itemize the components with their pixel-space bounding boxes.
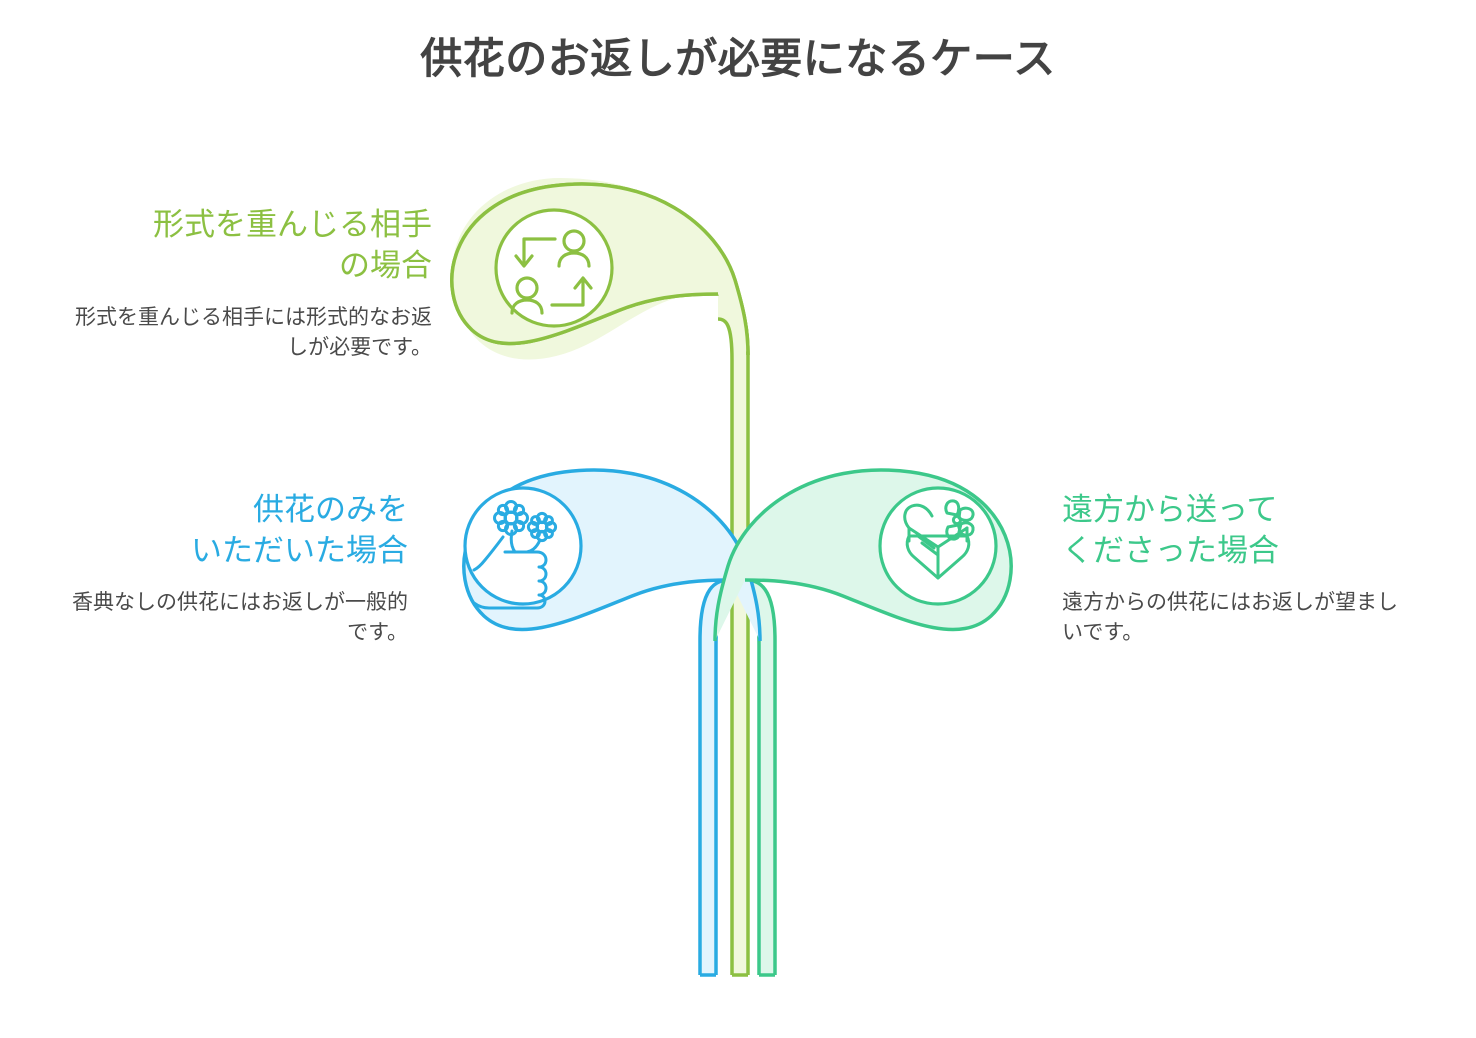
node-text-flowers-only: 供花のみを いただいた場合 香典なしの供花にはお返しが一般的です。 xyxy=(60,490,408,647)
node-heading-flowers-only: 供花のみを いただいた場合 xyxy=(60,490,408,572)
stem-green xyxy=(718,294,748,975)
node-heading-line-1: 遠方から送って xyxy=(1062,492,1277,527)
node-heading-line-1: 供花のみを xyxy=(253,492,408,527)
node-description-formal-recipient: 形式を重んじる相手には形式的なお返しが必要です。 xyxy=(60,303,432,363)
node-heading-line-2: の場合 xyxy=(339,248,432,283)
node-heading-line-1: 形式を重んじる相手 xyxy=(153,207,432,242)
frond-green-top xyxy=(452,178,748,360)
node-text-sent-from-afar: 遠方から送って くださった場合 遠方からの供花にはお返しが望ましいです。 xyxy=(1062,490,1414,647)
node-heading-sent-from-afar: 遠方から送って くださった場合 xyxy=(1062,490,1414,572)
node-heading-line-2: くださった場合 xyxy=(1062,533,1279,568)
node-heading-line-2: いただいた場合 xyxy=(191,533,408,568)
node-description-flowers-only: 香典なしの供花にはお返しが一般的です。 xyxy=(60,588,408,648)
infographic-canvas: 供花のお返しが必要になるケース xyxy=(0,0,1476,1038)
node-text-formal-recipient: 形式を重んじる相手 の場合 形式を重んじる相手には形式的なお返しが必要です。 xyxy=(60,205,432,362)
node-heading-formal-recipient: 形式を重んじる相手 の場合 xyxy=(60,205,432,287)
node-description-sent-from-afar: 遠方からの供花にはお返しが望ましいです。 xyxy=(1062,588,1414,648)
